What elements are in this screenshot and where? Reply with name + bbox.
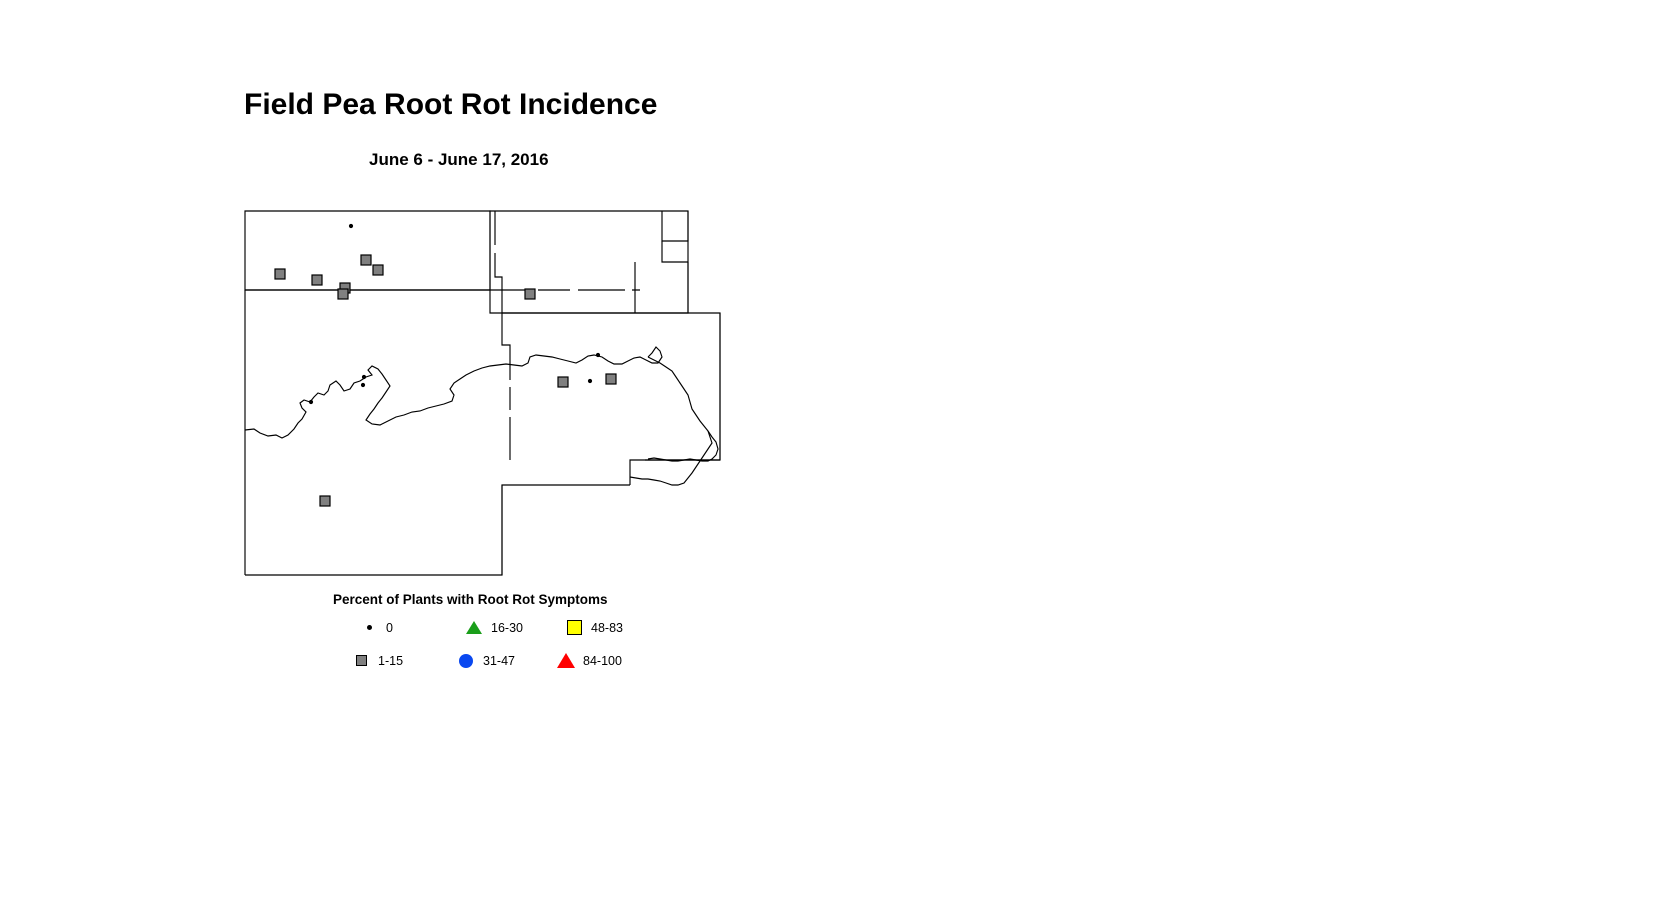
map-marker bbox=[320, 496, 330, 506]
map-marker bbox=[309, 400, 313, 404]
yellow-square-icon bbox=[561, 620, 587, 635]
county-boundaries bbox=[245, 211, 720, 575]
map-marker bbox=[349, 224, 353, 228]
east-inner-vertical bbox=[502, 313, 510, 460]
legend-title: Percent of Plants with Root Rot Symptoms bbox=[333, 592, 608, 607]
map-legend: Percent of Plants with Root Rot Symptoms… bbox=[244, 590, 744, 685]
east-county-outline bbox=[502, 313, 720, 460]
map-marker bbox=[558, 377, 568, 387]
east-lower-block bbox=[630, 460, 720, 477]
legend-label-1-15: 1-15 bbox=[374, 654, 403, 668]
legend-label-0: 0 bbox=[382, 621, 393, 635]
map-marker bbox=[596, 353, 600, 357]
map-marker bbox=[373, 265, 383, 275]
small-black-dot-icon bbox=[356, 625, 382, 630]
county-map bbox=[240, 205, 740, 585]
map-marker bbox=[338, 289, 348, 299]
legend-label-48-83: 48-83 bbox=[587, 621, 623, 635]
legend-item-84-100: 84-100 bbox=[551, 653, 651, 668]
legend-row-bottom: 1-15 31-47 84-100 bbox=[244, 653, 651, 668]
legend-label-31-47: 31-47 bbox=[479, 654, 515, 668]
legend-row-top: 0 16-30 48-83 bbox=[244, 620, 659, 635]
map-marker bbox=[606, 374, 616, 384]
blue-circle-icon bbox=[453, 654, 479, 668]
red-triangle-icon bbox=[553, 653, 579, 668]
map-marker bbox=[361, 255, 371, 265]
legend-item-1-15: 1-15 bbox=[244, 654, 446, 668]
map-panel bbox=[240, 205, 740, 585]
green-triangle-icon bbox=[461, 621, 487, 634]
gray-square-icon bbox=[348, 655, 374, 666]
legend-item-48-83: 48-83 bbox=[559, 620, 659, 635]
map-marker bbox=[525, 289, 535, 299]
river-lower-jog bbox=[630, 431, 712, 485]
legend-label-84-100: 84-100 bbox=[579, 654, 622, 668]
map-marker bbox=[312, 275, 322, 285]
map-marker bbox=[361, 383, 365, 387]
page-title: Field Pea Root Rot Incidence bbox=[244, 88, 657, 122]
legend-item-31-47: 31-47 bbox=[446, 654, 551, 668]
river-boundary-west bbox=[245, 347, 662, 438]
south-county-outline bbox=[245, 485, 630, 575]
figure-root: Field Pea Root Rot Incidence June 6 - Ju… bbox=[0, 0, 1673, 900]
marker-layer bbox=[275, 224, 616, 506]
legend-item-0: 0 bbox=[244, 621, 454, 635]
central-vertical-line bbox=[495, 211, 502, 313]
river-boundary-east bbox=[648, 357, 718, 461]
map-marker bbox=[588, 379, 592, 383]
map-marker bbox=[275, 269, 285, 279]
nc-county-outline bbox=[490, 211, 688, 313]
legend-item-16-30: 16-30 bbox=[454, 621, 559, 635]
legend-label-16-30: 16-30 bbox=[487, 621, 523, 635]
map-marker bbox=[362, 375, 366, 379]
ne-county-step bbox=[662, 241, 688, 262]
page-subtitle: June 6 - June 17, 2016 bbox=[369, 150, 549, 170]
ne-county-notch bbox=[662, 211, 688, 241]
